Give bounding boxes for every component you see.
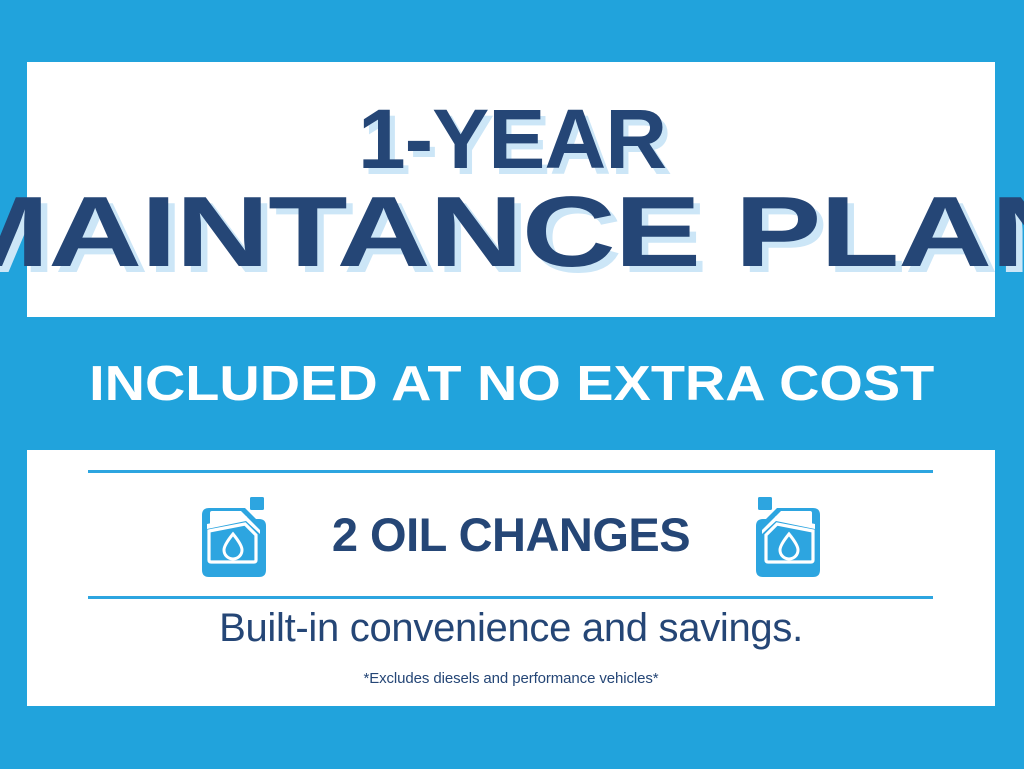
divider-bottom [88, 596, 933, 599]
tagline: Built-in convenience and savings. [27, 606, 995, 651]
details-card: 2 OIL CHANGES Built-in convenience and s… [27, 450, 995, 706]
oil-changes-row: 2 OIL CHANGES [27, 476, 995, 593]
oil-can-icon [752, 493, 824, 577]
fineprint-disclaimer: *Excludes diesels and performance vehicl… [27, 670, 995, 687]
oil-changes-label: 2 OIL CHANGES [332, 507, 690, 562]
subtitle-band: INCLUDED AT NO EXTRA COST [0, 317, 1024, 450]
maintenance-plan-poster: 1-YEAR MAINTANCE PLAN INCLUDED AT NO EXT… [0, 0, 1024, 769]
headline-line-2: MAINTANCE PLAN [0, 186, 1024, 278]
headline-card: 1-YEAR MAINTANCE PLAN [27, 62, 995, 317]
subtitle-text: INCLUDED AT NO EXTRA COST [89, 356, 934, 412]
divider-top [88, 470, 933, 473]
oil-can-icon [198, 493, 270, 577]
headline-stack: 1-YEAR MAINTANCE PLAN [0, 62, 1024, 317]
headline-line-1: 1-YEAR [358, 101, 666, 178]
